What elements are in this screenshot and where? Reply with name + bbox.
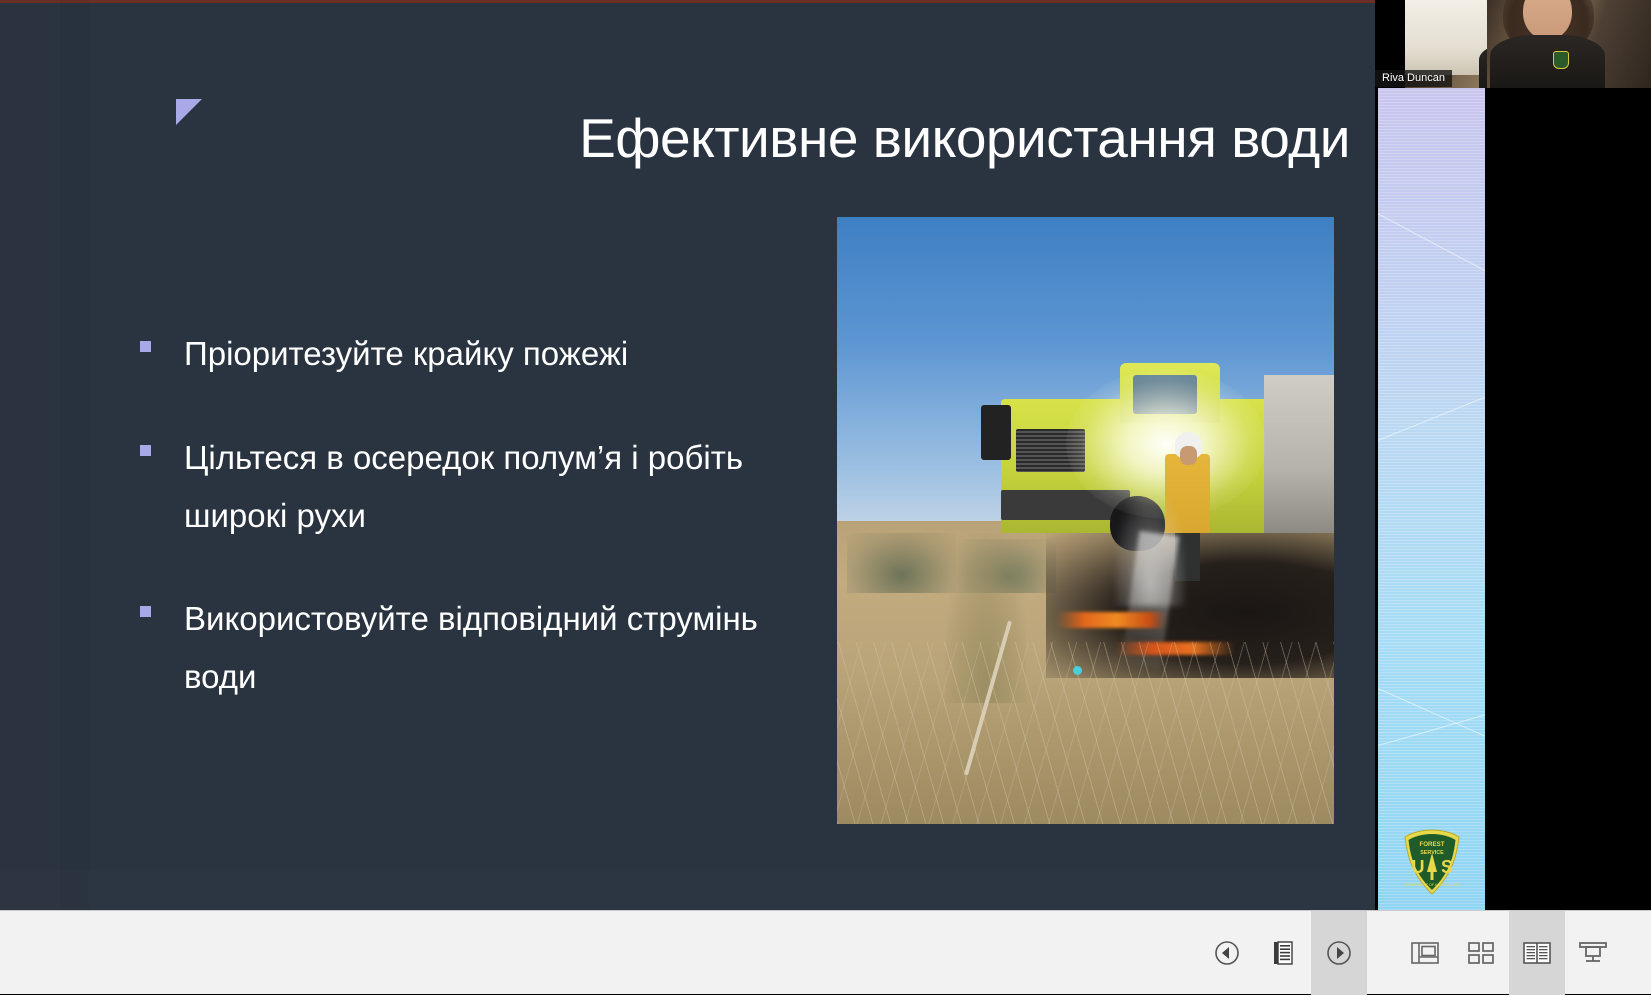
slide-sorter-icon xyxy=(1467,940,1495,966)
reading-view-icon xyxy=(1522,940,1552,966)
slideshow-button[interactable] xyxy=(1565,911,1621,995)
photo-flames xyxy=(1056,612,1166,628)
presentation-toolbar xyxy=(0,910,1651,994)
svg-text:FOREST: FOREST xyxy=(1419,841,1444,848)
slide-bullet-list: Пріоритезуйте крайку пожежі Цільтеся в о… xyxy=(140,325,760,752)
toolbar-empty-area xyxy=(0,911,1230,994)
triangle-accent-icon xyxy=(176,99,202,125)
svg-text:U: U xyxy=(1412,857,1425,877)
normal-view-icon xyxy=(1410,940,1440,966)
toolbar-end-spacer xyxy=(1621,911,1651,995)
bullet-square-icon xyxy=(140,606,151,617)
photo-sagebrush xyxy=(847,533,956,594)
chevron-left-circle-icon xyxy=(1214,940,1240,966)
bullet-text: Використовуйте відповідний струмінь води xyxy=(184,590,760,706)
reading-view-button[interactable] xyxy=(1509,911,1565,995)
side-panel-scanlines xyxy=(1378,88,1485,910)
presentation-slide[interactable]: Ефективне використання води Пріоритезуйт… xyxy=(0,0,1375,910)
previous-slide-button[interactable] xyxy=(1199,911,1255,995)
side-gradient-panel: FOREST SERVICE U S DEPARTMENT OF AGRICUL… xyxy=(1378,88,1485,910)
normal-view-button[interactable] xyxy=(1397,911,1453,995)
photo-fire-engine-rear xyxy=(1264,375,1334,533)
notes-page-icon xyxy=(1270,940,1296,966)
slide-sorter-button[interactable] xyxy=(1453,911,1509,995)
black-filler-strip xyxy=(1485,88,1651,910)
slide-top-rule xyxy=(0,0,1375,3)
photo-firefighter-face xyxy=(1180,446,1197,464)
slideshow-projector-icon xyxy=(1578,940,1608,966)
photo-smoke xyxy=(1115,496,1185,606)
bullet-square-icon xyxy=(140,341,151,352)
slide-notes-button[interactable] xyxy=(1255,911,1311,995)
avatar-shirt xyxy=(1490,35,1605,88)
list-item: Пріоритезуйте крайку пожежі xyxy=(140,325,760,383)
bullet-square-icon xyxy=(140,445,151,456)
next-slide-button[interactable] xyxy=(1311,911,1367,995)
bullet-text: Цільтеся в осередок полум’я і робіть шир… xyxy=(184,429,760,545)
video-tile-secondary[interactable] xyxy=(1487,0,1651,88)
slide-photo-fire-engine xyxy=(837,217,1334,824)
toolbar-divider xyxy=(1367,911,1397,995)
photo-water-monitor xyxy=(981,405,1011,460)
video-participant-name: Riva Duncan xyxy=(1375,70,1452,87)
slide-title: Ефективне використання води xyxy=(420,108,1350,169)
chevron-right-circle-icon xyxy=(1326,940,1352,966)
list-item: Цільтеся в осередок полум’я і робіть шир… xyxy=(140,429,760,545)
bullet-text: Пріоритезуйте крайку пожежі xyxy=(184,325,628,383)
svg-text:S: S xyxy=(1441,857,1453,877)
forest-service-badge-icon xyxy=(1553,51,1569,69)
svg-text:DEPARTMENT OF AGRICULTURE: DEPARTMENT OF AGRICULTURE xyxy=(1404,883,1461,887)
list-item: Використовуйте відповідний струмінь води xyxy=(140,590,760,706)
usda-forest-service-shield-icon: FOREST SERVICE U S DEPARTMENT OF AGRICUL… xyxy=(1401,828,1463,896)
photo-dry-grass-overlay xyxy=(837,642,1334,824)
